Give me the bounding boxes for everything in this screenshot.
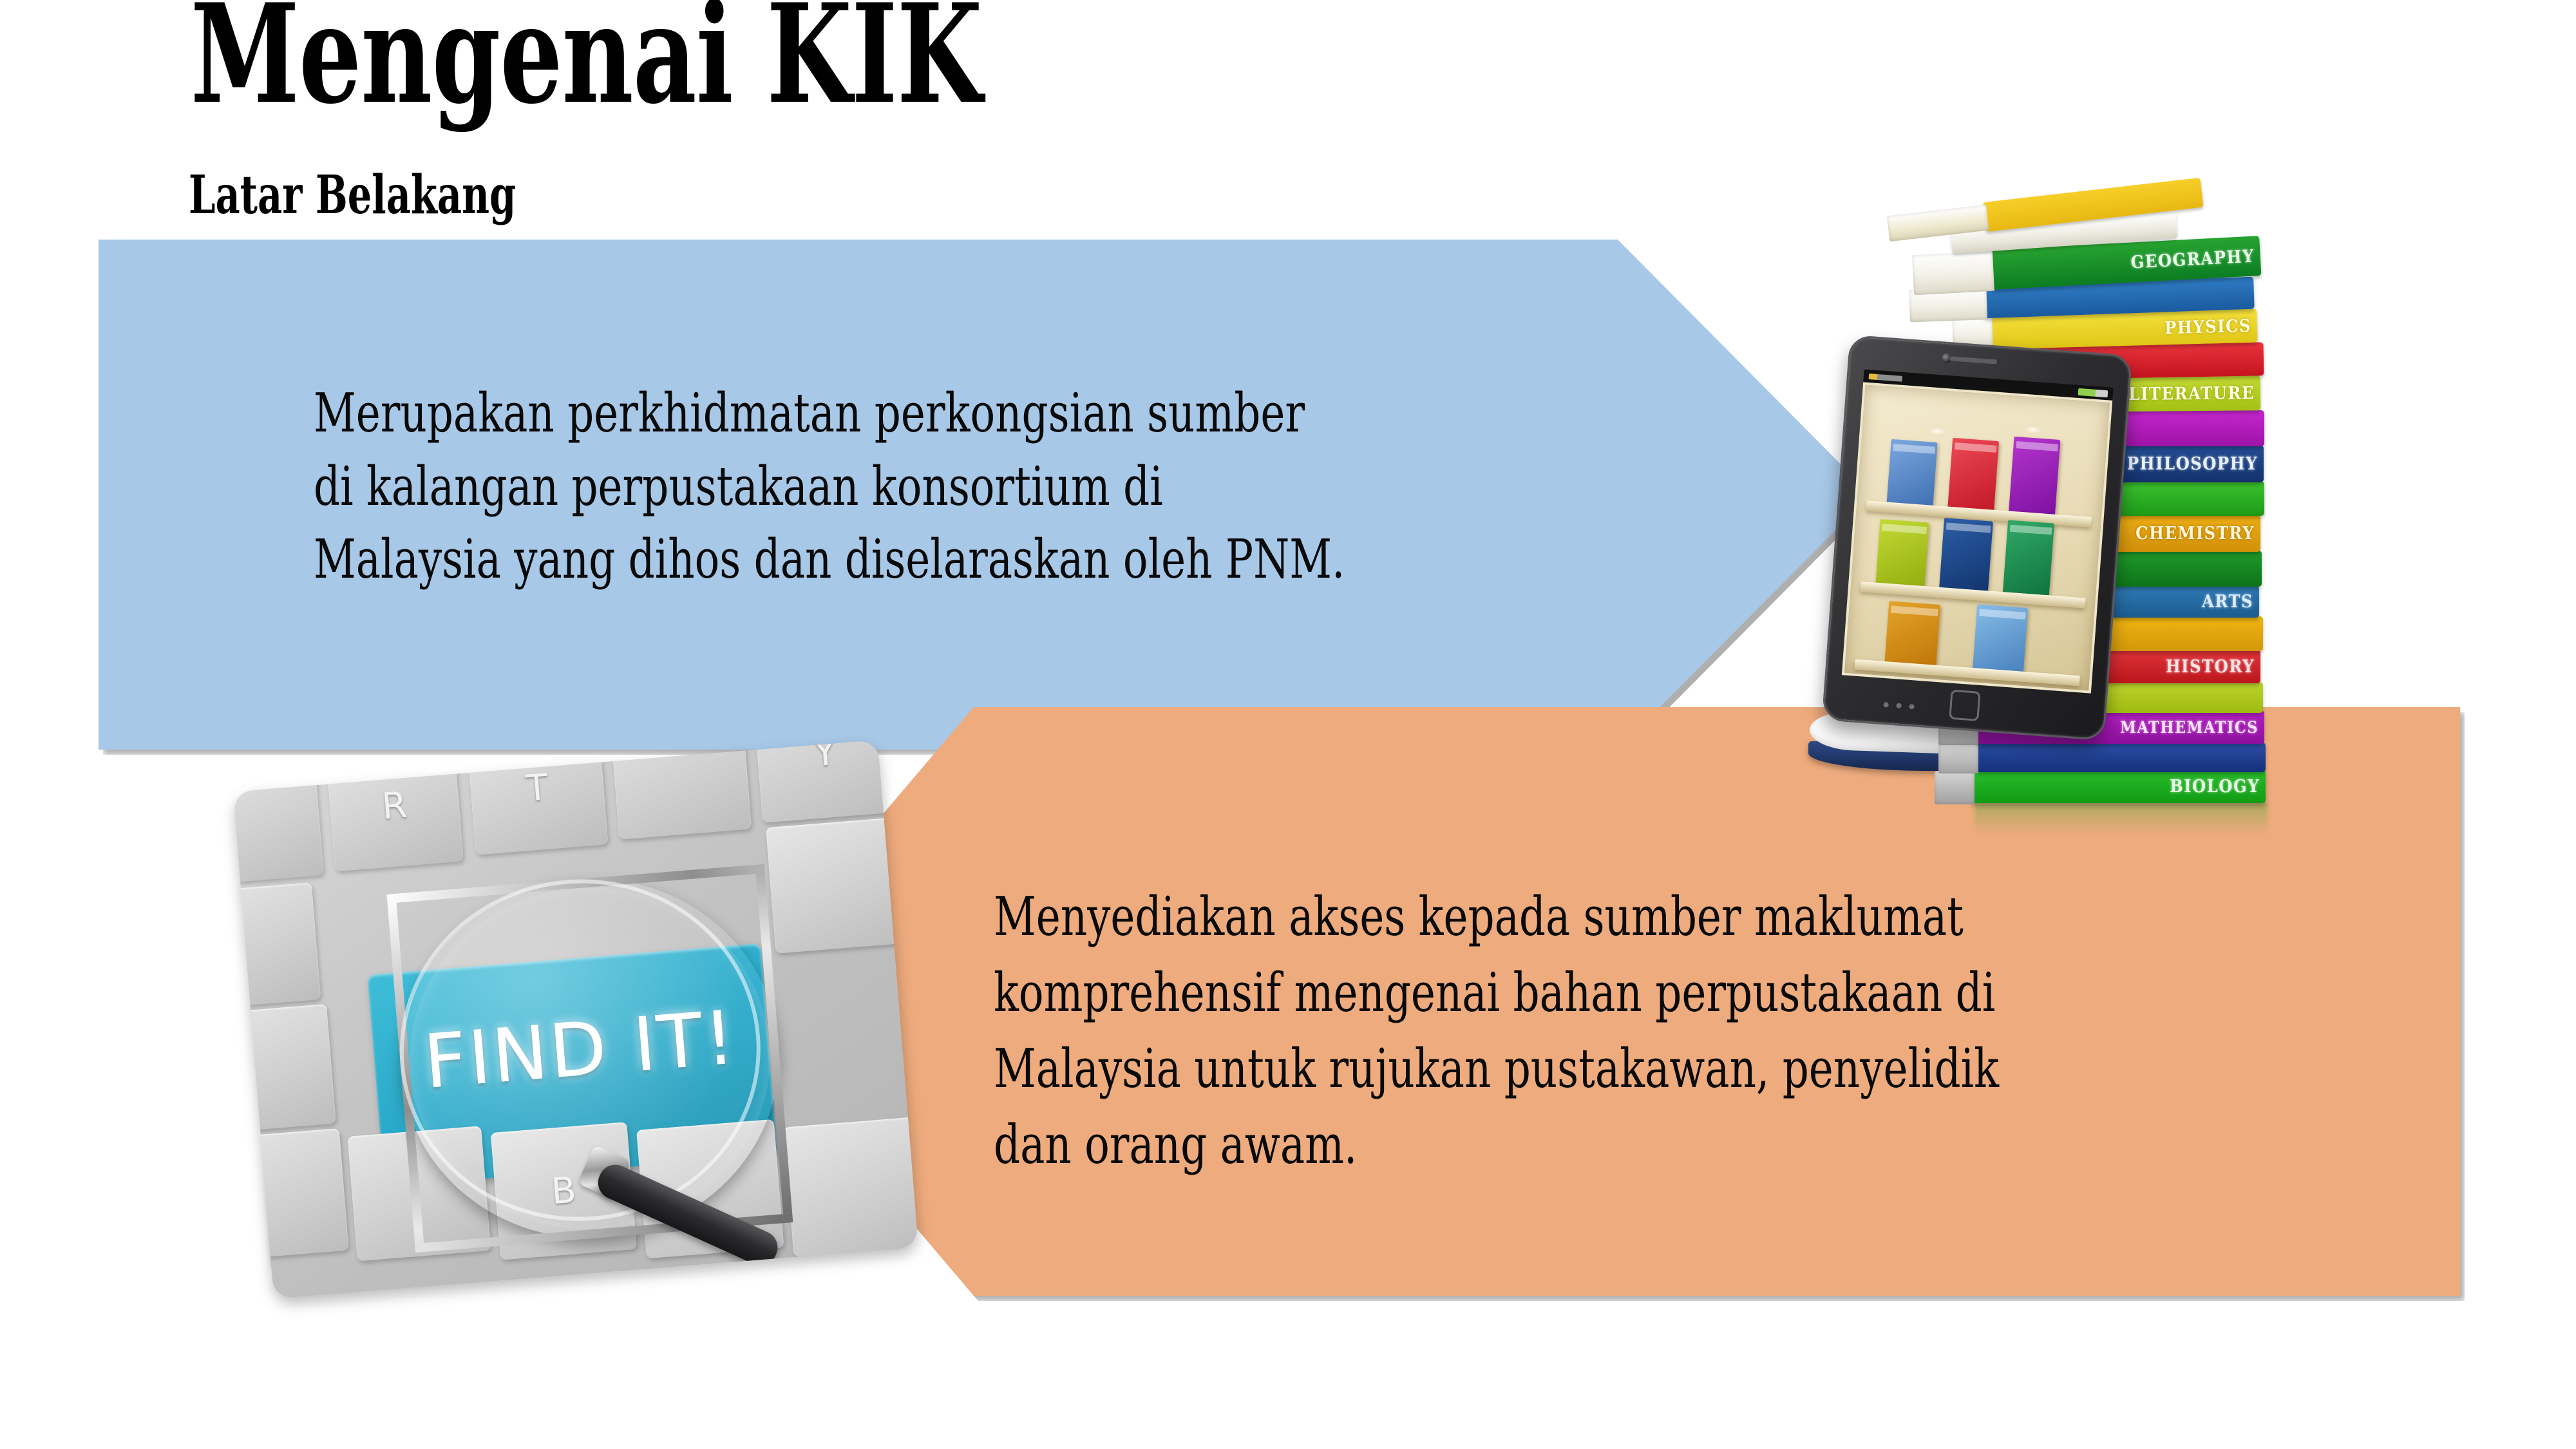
shelf-book (1939, 518, 1993, 591)
key-letter-r: R (381, 784, 409, 828)
book-stack-reflection (1975, 802, 2268, 834)
keyboard-key (609, 740, 752, 840)
battery-icon (2078, 388, 2108, 397)
book-spine-label: BIOLOGY (1972, 770, 2266, 803)
book-pages (1935, 771, 1975, 804)
shelf-book (2003, 520, 2054, 595)
shelf-book (1886, 439, 1938, 508)
tablet-screen-bookshelf (1842, 382, 2112, 693)
blue-callout-text: Merupakan perkhidmatan perkongsian sumbe… (314, 377, 1466, 596)
home-button-icon (1949, 690, 1980, 721)
shelf-light-spot (2024, 426, 2041, 434)
book-spine-biology: BIOLOGY (1972, 770, 2266, 803)
find-it-keyboard-image: R T Y B FIND IT! (233, 740, 918, 1299)
orange-callout-line-3: Malaysia untuk rujukan pustakawan, penye… (994, 1031, 2168, 1107)
shelf-book (1973, 604, 2029, 671)
book-pages (1938, 744, 1978, 773)
shelf-light-spot (1928, 427, 1946, 435)
tablet-device (1822, 335, 2133, 741)
keyboard-key (233, 1004, 336, 1133)
keyboard-key (233, 759, 324, 885)
shelf-book (1884, 601, 1940, 665)
blue-callout-line-2: di kalangan perpustakaan konsortium di (314, 450, 1466, 524)
keyboard-key-t: T (466, 740, 609, 855)
keyboard-key (783, 1116, 918, 1257)
key-letter-t: T (524, 766, 549, 810)
blue-callout-line-3: Malaysia yang dihos dan diselaraskan ole… (314, 523, 1466, 596)
keyboard-key-y: Y (752, 740, 897, 823)
shelf-book (1876, 519, 1929, 586)
book-stack-tablet-image: BIOLOGY MATHEMATICS HISTORY ARTS CHEMIST… (1797, 190, 2331, 757)
shelf-book (1947, 437, 1999, 513)
orange-callout-line-1: Menyediakan akses kepada sumber maklumat (994, 879, 2168, 955)
keyboard-key-r: R (325, 741, 463, 871)
orange-callout-line-4: dan orang awam. (994, 1107, 2168, 1183)
status-left-indicators (1869, 374, 1903, 382)
page-title: Mengenai KIK (191, 0, 982, 122)
key-letter-y: Y (812, 740, 837, 775)
blue-callout-line-1: Merupakan perkhidmatan perkongsian sumbe… (314, 377, 1466, 450)
keyboard-key (233, 1128, 349, 1261)
orange-callout-text: Menyediakan akses kepada sumber maklumat… (994, 879, 2168, 1182)
book-spine-plain-blue (1976, 743, 2266, 772)
shelf-book (2008, 436, 2060, 517)
keyboard-key (233, 882, 321, 1009)
page-subtitle: Latar Belakang (189, 169, 516, 222)
book-pages (1912, 251, 1994, 295)
orange-callout-line-2: komprehensif mengenai bahan perpustakaan… (994, 955, 2168, 1031)
title-area: Mengenai KIK Latar Belakang (0, 0, 1546, 245)
